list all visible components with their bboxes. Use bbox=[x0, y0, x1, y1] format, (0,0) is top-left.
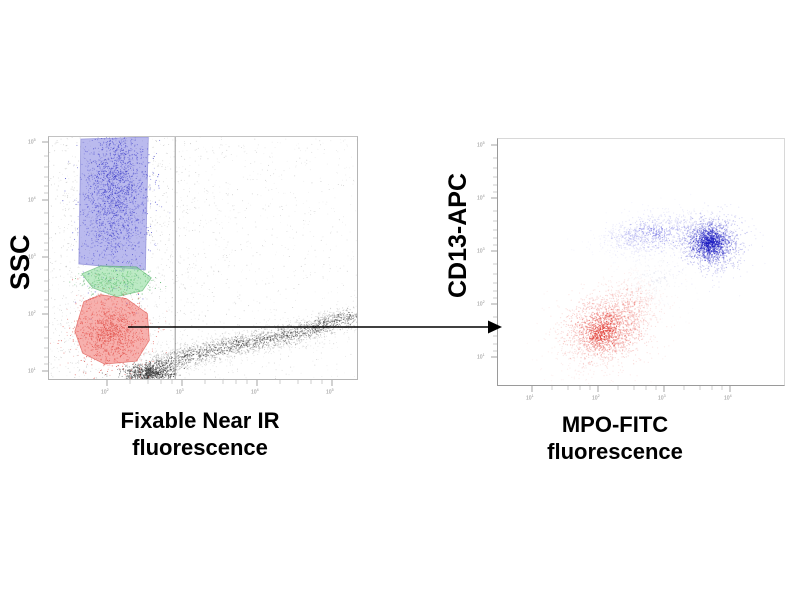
left-x-axis-title-line2: fluorescence bbox=[40, 435, 360, 462]
left-ytick-label-5: 105 bbox=[28, 138, 36, 146]
green-gate-polygon[interactable] bbox=[82, 266, 152, 297]
left-plot-frame bbox=[48, 136, 358, 380]
right-panel: CD13-APC bbox=[430, 120, 800, 480]
left-xtick-label-4: 105 bbox=[326, 388, 334, 396]
right-ytick-label-1: 101 bbox=[477, 353, 485, 361]
right-x-axis-title-line1: MPO-FITC bbox=[465, 412, 765, 439]
right-xtick-label-3: 103 bbox=[658, 394, 666, 402]
right-ytick-label-3: 103 bbox=[477, 247, 485, 255]
flow-cytometry-figure: SSC bbox=[0, 0, 800, 600]
left-x-axis-title-line1: Fixable Near IR bbox=[40, 408, 360, 435]
left-ytick-label-3: 103 bbox=[28, 253, 36, 261]
left-ytick-label-1: 101 bbox=[28, 367, 36, 375]
right-x-axis-title-line2: fluorescence bbox=[465, 439, 765, 466]
right-plot-frame bbox=[497, 138, 785, 386]
left-xtick-label-1: 102 bbox=[101, 388, 109, 396]
right-xtick-label-4: 104 bbox=[724, 394, 732, 402]
left-scatter-canvas bbox=[49, 137, 357, 379]
left-xtick-label-2: 103 bbox=[176, 388, 184, 396]
right-xtick-label-1: 101 bbox=[526, 394, 534, 402]
gate-to-plot-arrow bbox=[120, 315, 505, 339]
left-panel: SSC bbox=[0, 120, 400, 480]
blue-gate-polygon[interactable] bbox=[79, 137, 149, 270]
left-xtick-label-3: 104 bbox=[251, 388, 259, 396]
left-ytick-label-4: 104 bbox=[28, 196, 36, 204]
arrow-icon bbox=[120, 315, 505, 339]
right-ytick-label-5: 105 bbox=[477, 141, 485, 149]
right-ytick-label-4: 104 bbox=[477, 194, 485, 202]
left-ytick-label-2: 102 bbox=[28, 310, 36, 318]
right-ytick-label-2: 102 bbox=[477, 300, 485, 308]
right-scatter-canvas bbox=[498, 139, 784, 385]
left-x-axis-title: Fixable Near IR fluorescence bbox=[40, 408, 360, 462]
right-x-axis-title: MPO-FITC fluorescence bbox=[465, 412, 765, 466]
right-xtick-label-2: 102 bbox=[592, 394, 600, 402]
